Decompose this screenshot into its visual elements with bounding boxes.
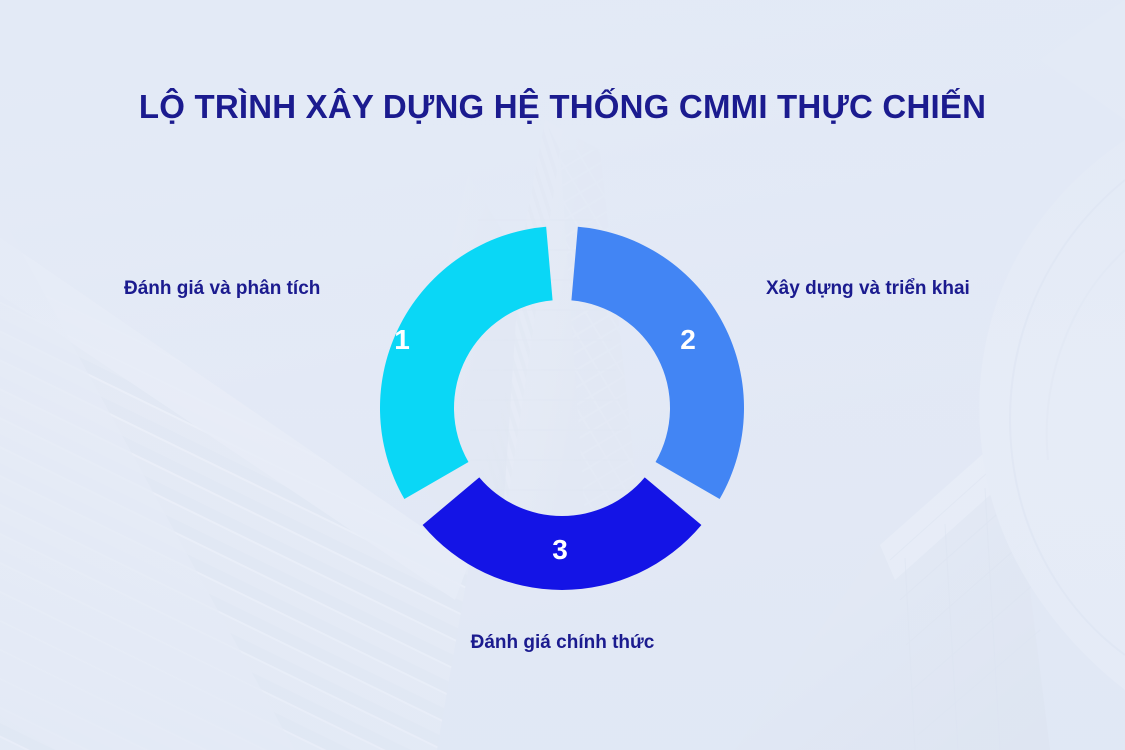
cycle-donut-chart: 1 2 3: [372, 218, 752, 598]
step-label-3: Đánh giá chính thức: [0, 632, 1125, 654]
step-label-1: Đánh giá và phân tích: [124, 278, 320, 300]
donut-segment-2[interactable]: [571, 227, 744, 499]
donut-segment-1[interactable]: [380, 227, 553, 499]
step-label-2: Xây dựng và triển khai: [766, 278, 970, 300]
page-title: LỘ TRÌNH XÂY DỰNG HỆ THỐNG CMMI THỰC CHI…: [0, 88, 1125, 126]
donut-segment-3[interactable]: [423, 477, 702, 590]
